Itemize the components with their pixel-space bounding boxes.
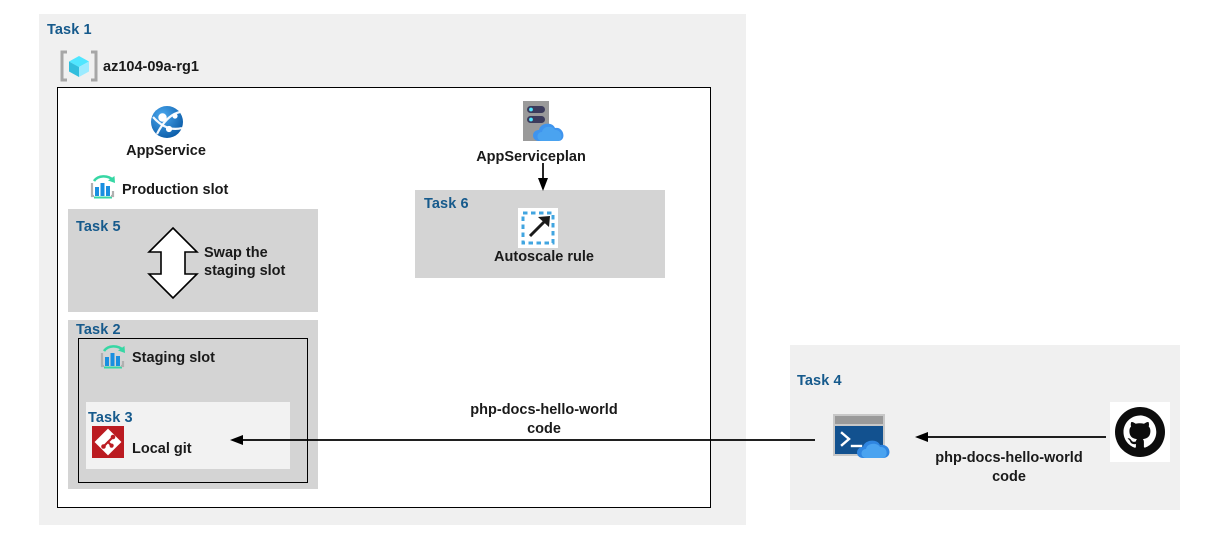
task6-label: Task 6 — [424, 196, 469, 212]
github-octocat-icon — [1110, 402, 1170, 462]
autoscale-rule-icon — [518, 208, 558, 248]
staging-slot-label: Staging slot — [132, 349, 215, 367]
deployment-slot-icon-production — [90, 174, 118, 200]
local-git-label: Local git — [132, 440, 192, 458]
cloud-shell-icon — [833, 414, 901, 460]
resource-group-icon — [60, 50, 98, 82]
shell-to-localgit-label-line2: code — [527, 421, 561, 437]
autoscale-rule-label: Autoscale rule — [479, 248, 609, 266]
shell-to-localgit-label-line1: php-docs-hello-world — [470, 402, 617, 418]
app-service-label: AppService — [113, 142, 219, 160]
github-to-shell-arrow-label: php-docs-hello-world code — [923, 449, 1095, 487]
deployment-slot-icon-staging — [100, 344, 128, 370]
diagram-canvas: Task 1 az104-09a-rg1 — [0, 0, 1218, 545]
production-slot-label: Production slot — [122, 181, 228, 199]
github-to-shell-label-line1: php-docs-hello-world — [935, 450, 1082, 466]
task3-label: Task 3 — [88, 410, 133, 426]
task5-label: Task 5 — [76, 219, 121, 235]
swap-staging-slot-label: Swap the staging slot — [204, 244, 310, 280]
app-service-plan-label: AppServiceplan — [471, 148, 591, 166]
resource-group-name: az104-09a-rg1 — [103, 58, 199, 76]
task4-label: Task 4 — [797, 373, 842, 389]
task1-label: Task 1 — [47, 22, 92, 38]
app-service-plan-icon — [512, 100, 572, 146]
github-to-shell-label-line2: code — [992, 469, 1026, 485]
app-service-globe-icon — [149, 104, 185, 140]
git-icon — [92, 426, 124, 458]
swap-label-line2: staging slot — [204, 263, 285, 279]
shell-to-localgit-arrow-label: php-docs-hello-world code — [459, 401, 629, 439]
swap-label-line1: Swap the — [204, 245, 268, 261]
double-headed-vertical-arrow-icon — [145, 226, 201, 300]
task2-label: Task 2 — [76, 322, 121, 338]
